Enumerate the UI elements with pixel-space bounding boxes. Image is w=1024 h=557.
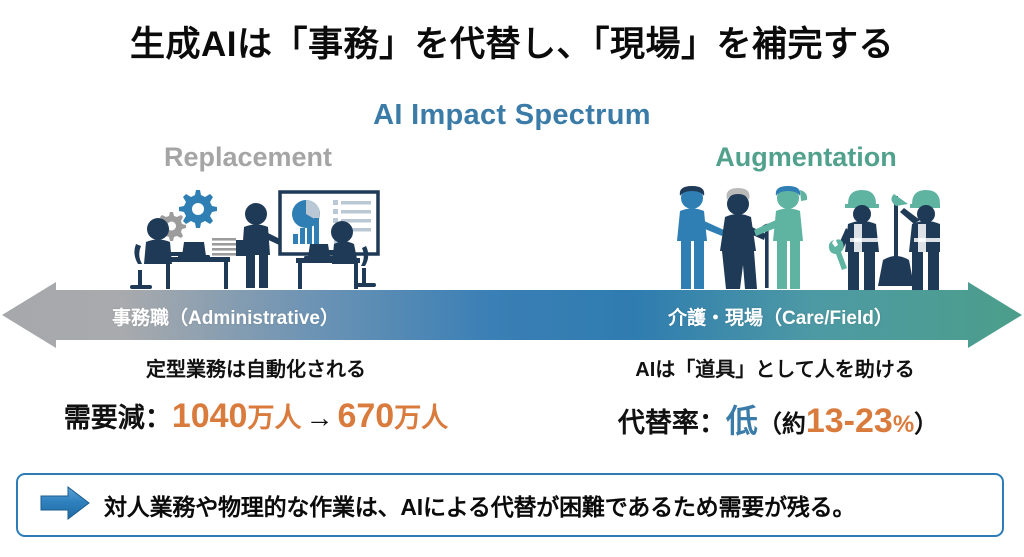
stat-left-to-value: 670 [337,397,394,435]
care-and-field-workers-illustration [668,178,940,299]
page-title: 生成AIは「事務」を代替し、「現場」を補完する [0,16,1024,67]
stat-right-percent-sign: % [893,411,914,438]
caption-left: 定型業務は自動化される [0,353,512,382]
band-label-administrative: 事務職（Administrative） [112,303,339,330]
stat-demand-decrease: 需要減：1040万人→670万人 [0,396,512,436]
paper-stack-icon [212,238,236,256]
stat-right-paren-open: （約 [758,411,806,438]
elderly-person-cane-icon [720,188,772,289]
stat-transition-arrow: → [301,402,337,433]
construction-worker-icon [829,190,879,290]
stat-right-paren-close: ） [914,411,938,438]
pole-label-replacement: Replacement [148,142,348,173]
band-label-care-field: 介護・現場（Care/Field） [668,303,893,330]
spectrum-subtitle: AI Impact Spectrum [0,99,1024,132]
stat-right-range: 13-23 [806,402,893,440]
callout-box: 対人業務や物理的な作業は、AIによる代替が困難であるため需要が残る。 [16,473,1004,537]
broom-icon [878,196,914,286]
stat-left-from-value: 1040 [172,397,248,435]
callout-text: 対人業務や物理的な作業は、AIによる代替が困難であるため需要が残る。 [104,488,855,522]
stat-right-label: 代替率： [618,408,726,438]
stat-replacement-rate: 代替率：低（約13-23%） [548,396,1008,442]
pole-label-augmentation: Augmentation [700,142,912,173]
caregiver-icon [677,186,724,289]
stat-left-label: 需要減： [64,403,172,433]
stat-left-to-unit: 万人 [394,403,448,433]
stat-left-from-unit: 万人 [247,403,301,433]
stat-right-level: 低 [726,403,758,439]
gear-icon [179,190,217,228]
right-arrow-icon [40,486,90,525]
presentation-board-icon [280,192,378,254]
caption-right: AIは「道具」として人を助ける [560,353,990,382]
